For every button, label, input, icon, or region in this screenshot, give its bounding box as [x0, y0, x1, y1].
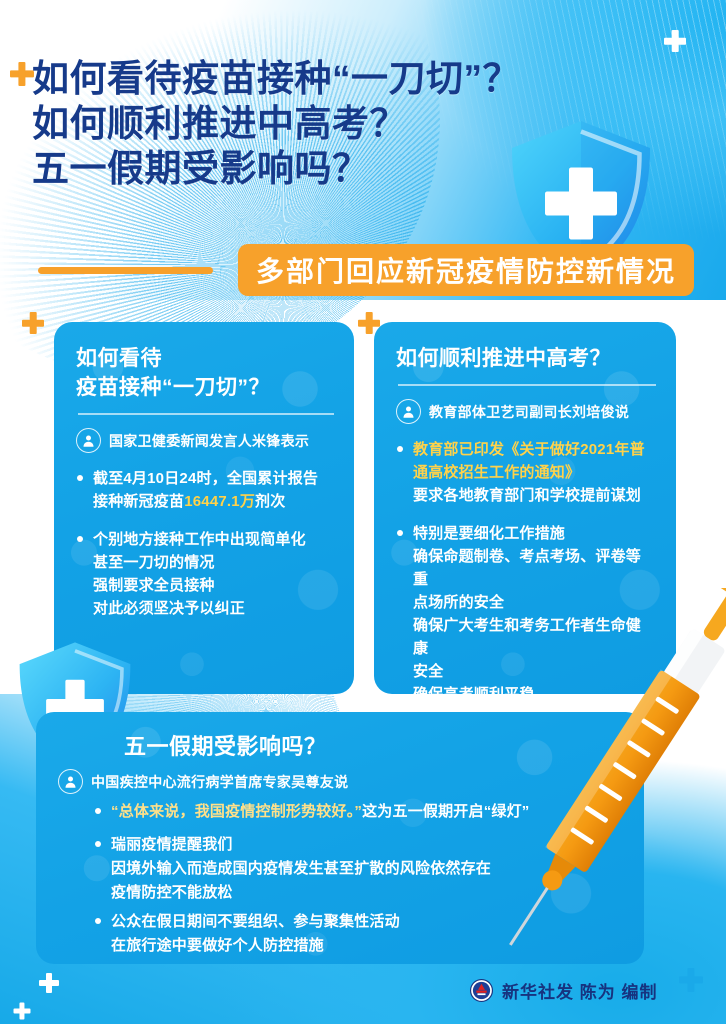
bullet-line: 个别地方接种工作中出现简单化 [93, 528, 334, 551]
list-item: 个别地方接种工作中出现简单化 甚至一刀切的情况 强制要求全员接种 对此必须坚决予… [76, 528, 334, 620]
bullet-line: 确保广大考生和考务工作者生命健康 [413, 614, 656, 660]
bullet-line: “总体来说，我国疫情控制形势较好。”这为五一假期开启“绿灯” [111, 800, 622, 824]
speaker-name: 教育部体卫艺司副司长刘培俊说 [429, 402, 629, 422]
plus-icon [22, 312, 44, 334]
card-title-line-1: 如何看待 [76, 344, 334, 373]
list-item: 截至4月10日24时，全国累计报告 接种新冠疫苗16447.1万剂次 [76, 467, 334, 513]
bullet-line: 强制要求全员接种 [93, 574, 334, 597]
bullet-line: 疫情防控不能放松 [111, 881, 622, 905]
bullet-line: 甚至一刀切的情况 [93, 551, 334, 574]
banner-rule [38, 267, 213, 274]
person-circle-icon [58, 769, 83, 794]
quote-text: “总体来说，我国疫情控制形势较好。” [111, 803, 362, 820]
list-item: 公众在假日期间不要组织、参与聚集性活动 在旅行途中要做好个人防控措施 [94, 910, 622, 958]
bullet-line-highlight: 教育部已印发《关于做好2021年普 [413, 438, 656, 461]
footer-credit: 新华社发 陈为 编制 [470, 978, 657, 1003]
speaker-name: 中国疾控中心流行病学首席专家吴尊友说 [91, 772, 348, 792]
bullet-line: 因境外输入而造成国内疫情发生甚至扩散的风险依然存在 [111, 857, 622, 881]
bullet-line: 在旅行途中要做好个人防控措施 [111, 934, 622, 958]
banner-label: 多部门回应新冠疫情防控新情况 [238, 244, 694, 296]
highlight-number: 16447.1万 [184, 493, 255, 510]
headline-line-1: 如何看待疫苗接种“一刀切”？ [32, 56, 652, 101]
speaker-attribution: 国家卫健委新闻发言人米锋表示 [76, 428, 334, 453]
bullet-line: 确保高考顺利平稳 [413, 683, 656, 694]
card-holiday: 五一假期受影响吗？ 中国疾控中心流行病学首席专家吴尊友说 “总体来说，我国疫情控… [36, 712, 644, 964]
list-item: 教育部已印发《关于做好2021年普 通高校招生工作的通知》 要求各地教育部门和学… [396, 438, 656, 507]
xinhua-logo-icon [470, 979, 493, 1002]
bullet-list: 教育部已印发《关于做好2021年普 通高校招生工作的通知》 要求各地教育部门和学… [396, 438, 656, 694]
bullet-line: 瑞丽疫情提醒我们 [111, 833, 622, 857]
quote-rest: 这为五一假期开启“绿灯” [362, 803, 529, 820]
bullet-line: 特别是要细化工作措施 [413, 522, 656, 545]
list-item: 瑞丽疫情提醒我们 因境外输入而造成国内疫情发生甚至扩散的风险依然存在 疫情防控不… [94, 833, 622, 905]
list-item: “总体来说，我国疫情控制形势较好。”这为五一假期开启“绿灯” [94, 800, 622, 824]
card-exams: 如何顺利推进中高考？ 教育部体卫艺司副司长刘培俊说 教育部已印发《关于做好202… [374, 322, 676, 694]
bullet-line: 公众在假日期间不要组织、参与聚集性活动 [111, 910, 622, 934]
bullet-list: 截至4月10日24时，全国累计报告 接种新冠疫苗16447.1万剂次 个别地方接… [76, 467, 334, 620]
bullet-line: 接种新冠疫苗16447.1万剂次 [93, 490, 334, 513]
speaker-name: 国家卫健委新闻发言人米锋表示 [109, 431, 309, 451]
list-item: 特别是要细化工作措施 确保命题制卷、考点考场、评卷等重 点场所的安全 确保广大考… [396, 522, 656, 694]
bullet-line: 确保命题制卷、考点考场、评卷等重 [413, 545, 656, 591]
speaker-attribution: 中国疾控中心流行病学首席专家吴尊友说 [58, 769, 622, 794]
footer-credit-text: 新华社发 陈为 编制 [502, 978, 657, 1003]
banner-row: 多部门回应新冠疫情防控新情况 [38, 244, 698, 296]
card-title-line-2: 疫苗接种“一刀切”？ [76, 373, 334, 402]
bullet-line: 要求各地教育部门和学校提前谋划 [413, 484, 656, 507]
bullet-line: 截至4月10日24时，全国累计报告 [93, 467, 334, 490]
card-vaccination: 如何看待 疫苗接种“一刀切”？ 国家卫健委新闻发言人米锋表示 截至4月10日24… [54, 322, 354, 694]
card-title: 五一假期受影响吗？ [80, 732, 622, 761]
bullet-list: “总体来说，我国疫情控制形势较好。”这为五一假期开启“绿灯” 瑞丽疫情提醒我们 … [94, 800, 622, 958]
poster-canvas: 如何看待疫苗接种“一刀切”？ 如何顺利推进中高考？ 五一假期受影响吗？ 多部门回… [0, 0, 726, 1024]
speaker-attribution: 教育部体卫艺司副司长刘培俊说 [396, 399, 656, 424]
bullet-line-highlight: 通高校招生工作的通知》 [413, 461, 656, 484]
bullet-line: 点场所的安全 [413, 591, 656, 614]
card-divider [398, 384, 656, 386]
person-circle-icon [396, 399, 421, 424]
bullet-line: 对此必须坚决予以纠正 [93, 597, 334, 620]
card-divider [78, 413, 334, 415]
card-title: 如何顺利推进中高考？ [396, 344, 656, 373]
bullet-line: 安全 [413, 660, 656, 683]
card-title: 如何看待 疫苗接种“一刀切”？ [76, 344, 334, 402]
card-title-line-1: 五一假期受影响吗？ [124, 732, 622, 761]
person-circle-icon [76, 428, 101, 453]
card-title-line-1: 如何顺利推进中高考？ [396, 344, 656, 373]
